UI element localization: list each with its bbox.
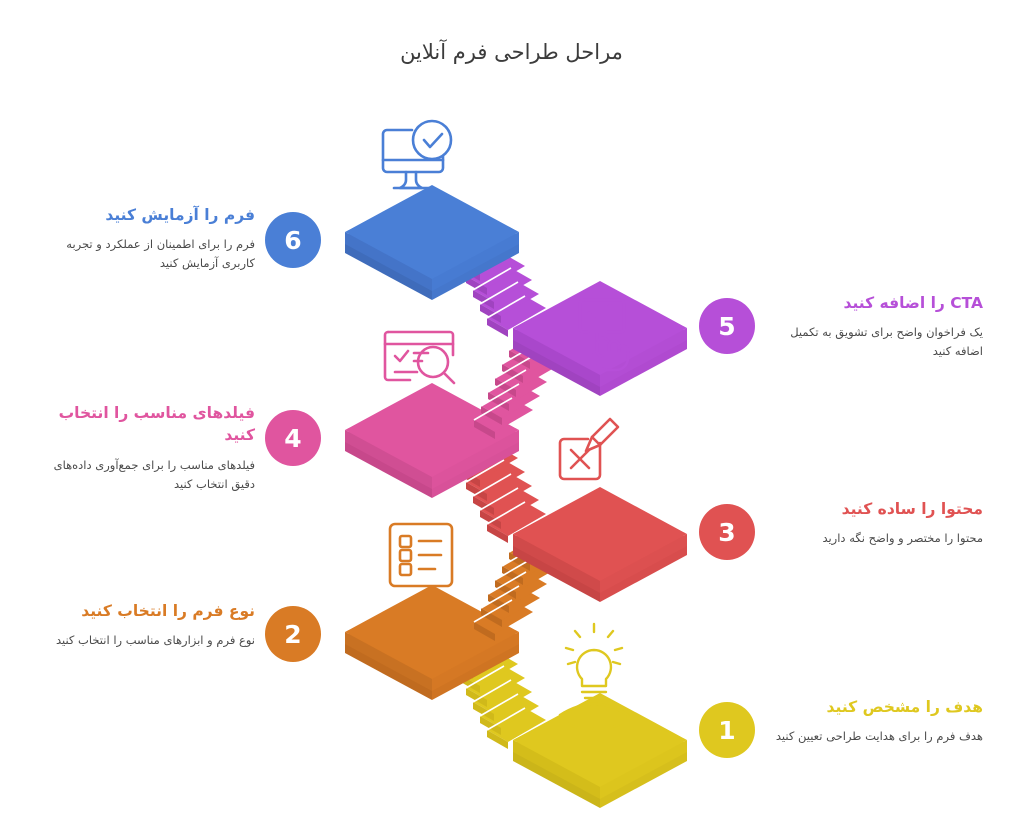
step-heading-6: فرم را آزمایش کنید (40, 204, 255, 226)
step-badge-2[interactable]: 2 (265, 606, 321, 662)
step-heading-4: فیلدهای مناسب را انتخاب کنید (40, 402, 255, 447)
step-badge-number-4: 4 (284, 424, 301, 453)
monitor-check-icon (383, 121, 451, 188)
step-description-1: هدف فرم را برای هدایت طراحی تعیین کنید (768, 727, 983, 746)
step-description-5: یک فراخوان واضح برای تشویق به تکمیل اضاف… (768, 323, 983, 361)
step-text-3: محتوا را ساده کنید محتوا را مختصر و واضح… (768, 498, 983, 548)
browser-search-icon (385, 332, 454, 383)
step-text-1: هدف را مشخص کنید هدف فرم را برای هدایت ط… (768, 696, 983, 746)
step-badge-number-2: 2 (284, 620, 301, 649)
edit-box-pencil-icon (560, 419, 618, 479)
step-heading-2: نوع فرم را انتخاب کنید (40, 600, 255, 622)
step-badge-4[interactable]: 4 (265, 410, 321, 466)
step-text-6: فرم را آزمایش کنید فرم را برای اطمینان ا… (40, 204, 255, 273)
step-text-5: CTA را اضافه کنید یک فراخوان واضح برای ت… (768, 292, 983, 361)
infographic-canvas: مراحل طراحی فرم آنلاین (0, 0, 1023, 832)
step-description-6: فرم را برای اطمینان از عملکرد و تجربه کا… (40, 235, 255, 273)
form-checklist-icon (390, 524, 452, 586)
step-badge-6[interactable]: 6 (265, 212, 321, 268)
step-badge-number-6: 6 (284, 226, 301, 255)
step-heading-5: CTA را اضافه کنید (768, 292, 983, 314)
step-description-4: فیلدهای مناسب را برای جمع‌آوری داده‌های … (40, 456, 255, 494)
platform-step-1 (513, 691, 687, 808)
step-badge-5[interactable]: 5 (699, 298, 755, 354)
step-text-2: نوع فرم را انتخاب کنید نوع فرم و ابزارها… (40, 600, 255, 650)
step-badge-number-5: 5 (718, 312, 735, 341)
step-text-4: فیلدهای مناسب را انتخاب کنید فیلدهای منا… (40, 402, 255, 494)
step-description-3: محتوا را مختصر و واضح نگه دارید (768, 529, 983, 548)
step-badge-number-3: 3 (718, 518, 735, 547)
step-heading-1: هدف را مشخص کنید (768, 696, 983, 718)
step-badge-1[interactable]: 1 (699, 702, 755, 758)
step-description-2: نوع فرم و ابزارهای مناسب را انتخاب کنید (40, 631, 255, 650)
step-badge-number-1: 1 (718, 716, 735, 745)
step-badge-3[interactable]: 3 (699, 504, 755, 560)
step-heading-3: محتوا را ساده کنید (768, 498, 983, 520)
